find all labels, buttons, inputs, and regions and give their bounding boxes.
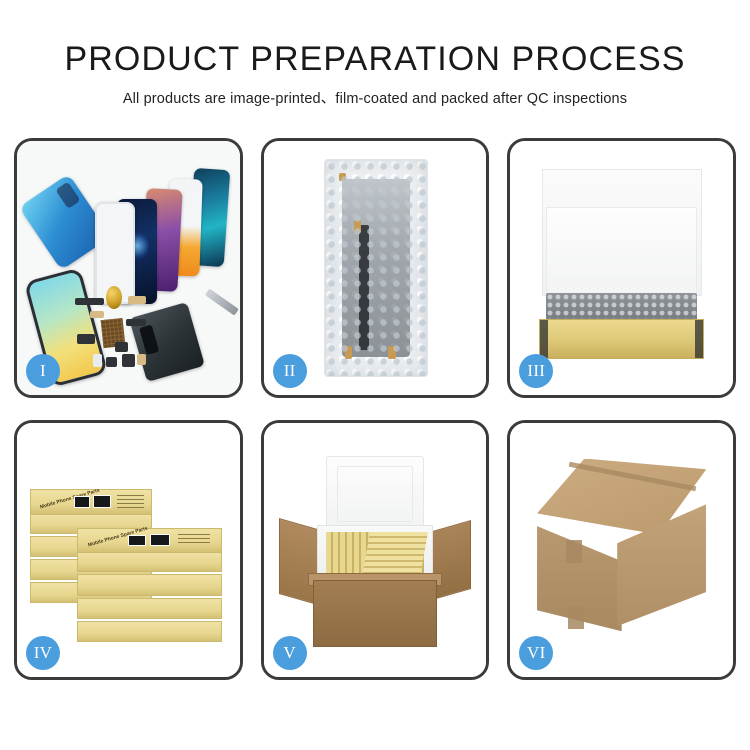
header: PRODUCT PREPARATION PROCESS All products… — [0, 38, 750, 109]
foam-lid-image — [326, 456, 424, 532]
product-preparation-process-page: PRODUCT PREPARATION PROCESS All products… — [0, 0, 750, 750]
process-step-panel-3: III — [507, 138, 736, 398]
process-step-panel-2: II — [261, 138, 490, 398]
stacked-box-front-top: Mobile Phone Spare Parts — [77, 528, 222, 553]
carton-tab-upper — [566, 540, 582, 563]
page-title: PRODUCT PREPARATION PROCESS — [0, 38, 750, 80]
flex-cable-part-icon — [75, 298, 104, 304]
packed-yellow-boxes-right — [362, 532, 428, 578]
carton-tab-lower — [568, 606, 584, 629]
stacked-box-rear-top: Mobile Phone Spare Parts — [30, 489, 151, 514]
white-foam-sheet-image — [546, 207, 697, 298]
box-artwork-phone-back-rear — [93, 495, 111, 507]
bubble-wrap-bag-image — [324, 159, 429, 377]
box-label-rear: Mobile Phone Spare Parts — [39, 487, 100, 510]
connector-part-icon — [128, 296, 146, 304]
camera-module-part-icon — [77, 334, 95, 344]
bubble-texture — [325, 160, 428, 376]
vibrator-part-icon — [106, 357, 117, 367]
speaker-part-icon — [106, 286, 122, 309]
box-spec-lines-front — [178, 534, 209, 546]
step-badge-2: II — [273, 354, 307, 388]
tweezers-icon — [205, 289, 239, 316]
earpiece-part-icon — [122, 354, 135, 367]
step-badge-4: IV — [26, 636, 60, 670]
process-steps-grid: I II — [14, 138, 736, 680]
box-artwork-phone-front — [128, 535, 145, 546]
stacked-box-r2 — [77, 574, 222, 595]
yellow-box-base-image — [539, 319, 704, 360]
process-step-panel-4: Mobile Phone Spare Parts Mobile Phone Sp… — [14, 420, 243, 680]
stacked-box-r1 — [77, 551, 222, 572]
ribbon-cable-part-icon — [126, 319, 146, 327]
stacked-box-r4 — [77, 621, 222, 642]
phone-back-housing-image — [129, 302, 205, 382]
step-badge-5: V — [273, 636, 307, 670]
box-artwork-phone-front-rear — [74, 496, 90, 508]
page-subtitle: All products are image-printed、film-coat… — [0, 89, 750, 109]
process-step-panel-6: VI — [507, 420, 736, 680]
box-stack-image: Mobile Phone Spare Parts Mobile Phone Sp… — [30, 459, 226, 652]
box-artwork-phone-back — [150, 534, 170, 546]
stacked-box-r3 — [77, 598, 222, 619]
step-badge-1: I — [26, 354, 60, 388]
carton-front-face — [313, 580, 438, 646]
process-step-panel-5: V — [261, 420, 490, 680]
screw-plate-part-icon — [137, 354, 146, 364]
button-flex-part-icon — [90, 311, 103, 317]
process-step-panel-1: I — [14, 138, 243, 398]
small-white-part-icon — [93, 354, 102, 367]
sim-tray-part-icon — [115, 342, 128, 352]
box-spec-lines-rear — [117, 495, 143, 507]
